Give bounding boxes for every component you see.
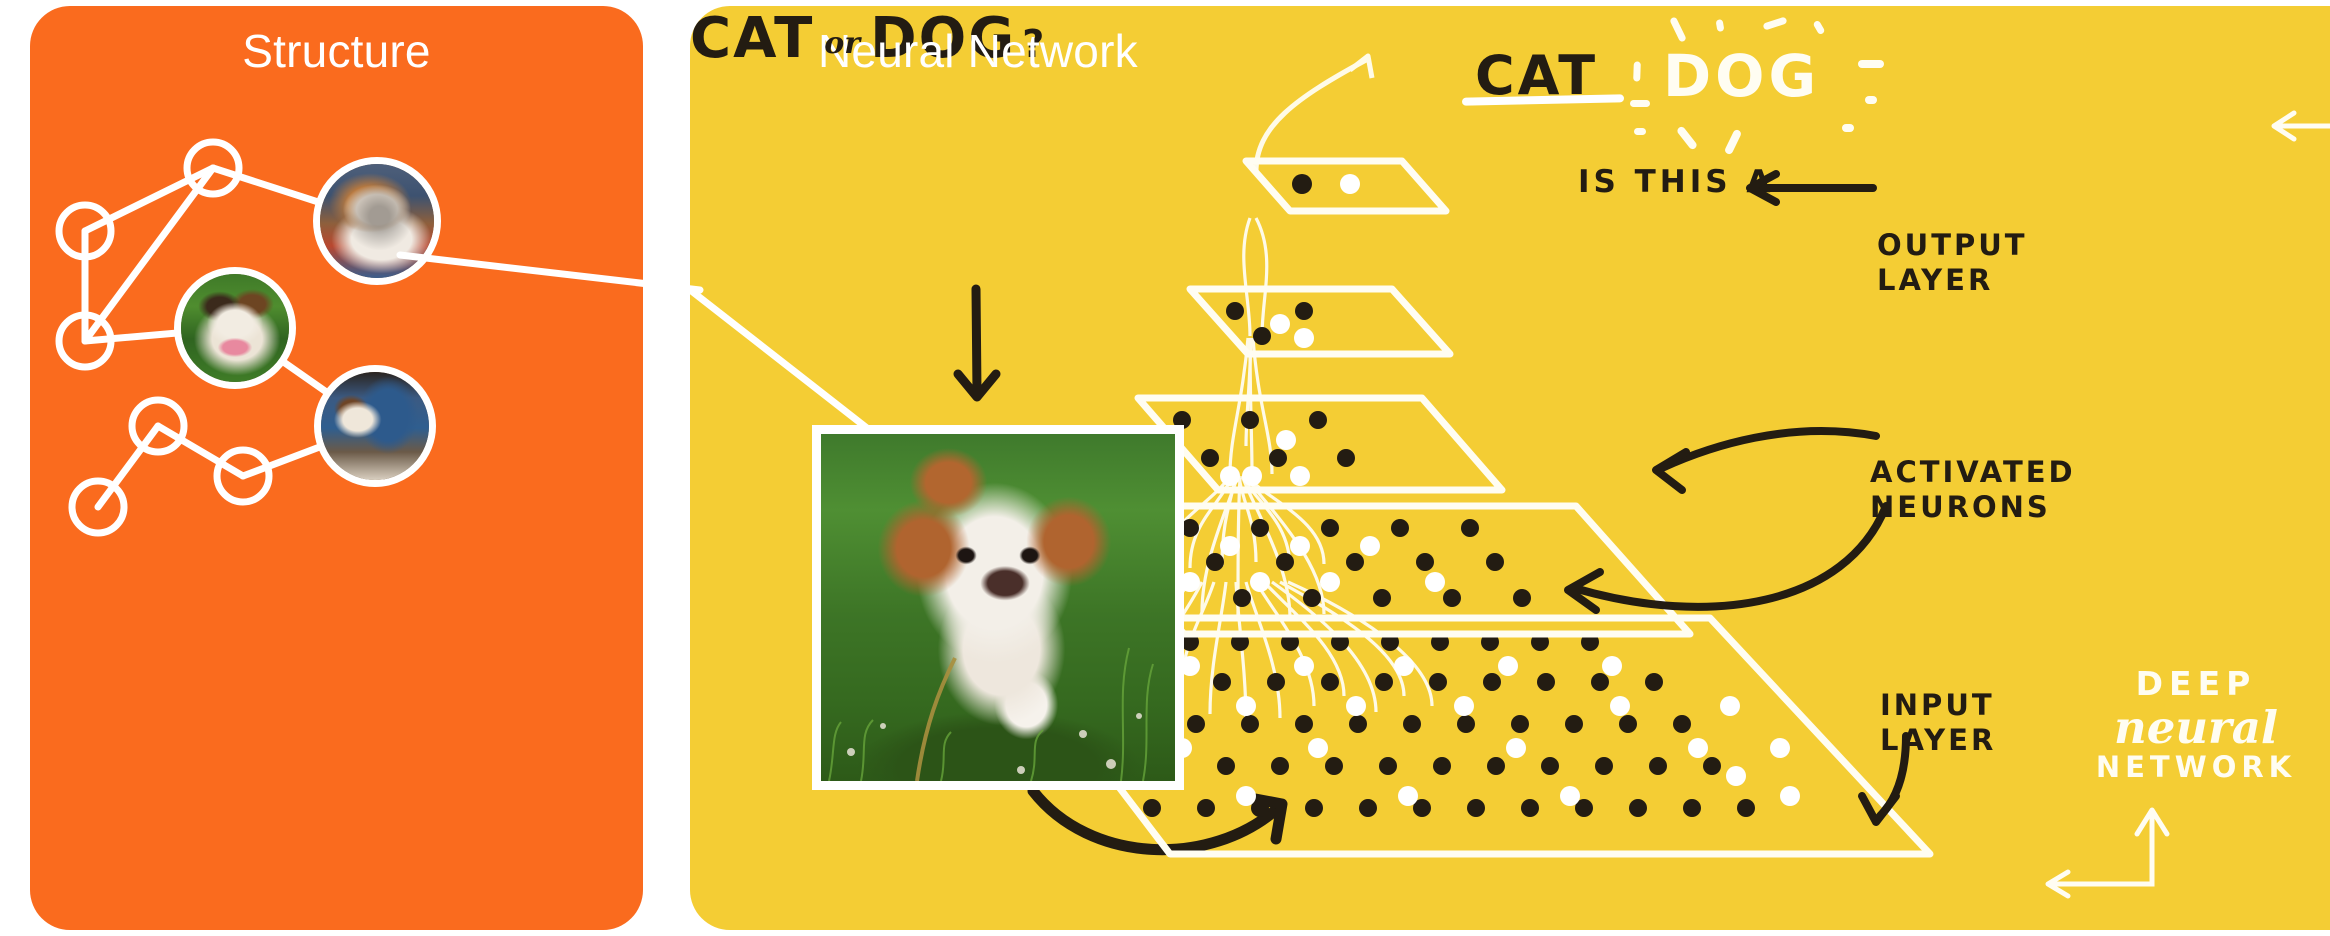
bridge-line: [400, 255, 700, 290]
poster-canvas: Structure: [0, 0, 2330, 936]
panel-bridge-connector: [0, 0, 2330, 936]
